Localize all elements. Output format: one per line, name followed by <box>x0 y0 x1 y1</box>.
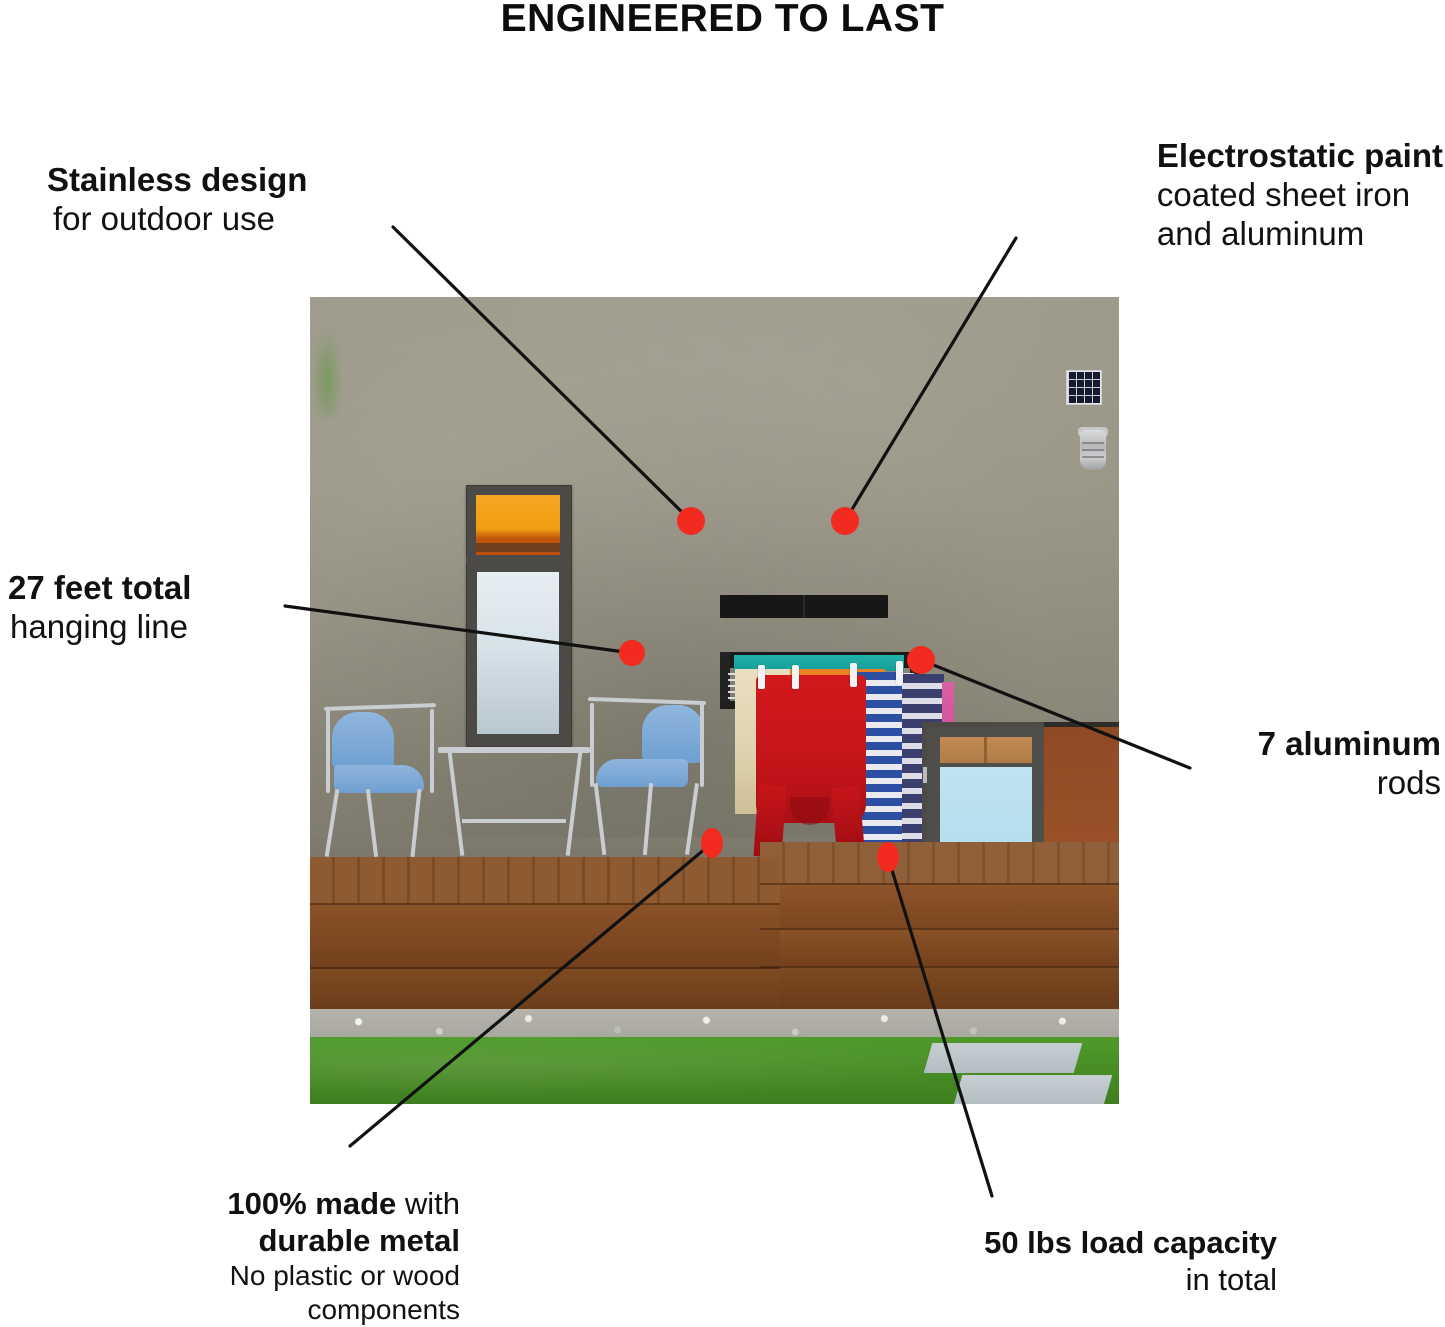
clothespin <box>792 665 799 689</box>
callout-electrostatic-paint: Electrostatic paint coated sheet iron an… <box>1157 136 1443 253</box>
patio-table-brace <box>462 819 566 823</box>
clothespin <box>758 665 765 689</box>
callout-durable-line-1-bold: 100% made <box>227 1186 396 1221</box>
product-photo <box>310 297 1119 1104</box>
wall-lamp-rib <box>1082 449 1104 451</box>
stone-paver <box>954 1075 1113 1104</box>
wall-bar-seam <box>803 595 805 618</box>
deck-seam <box>760 966 1119 968</box>
door-hinge <box>923 767 927 783</box>
chair-left-seat <box>334 765 424 793</box>
deck-seam <box>760 883 1119 885</box>
stone-paver <box>924 1043 1083 1073</box>
deck-seam <box>310 903 780 905</box>
deck-upper-surface <box>760 842 1119 886</box>
callout-durable-line-2: durable metal <box>227 1222 460 1259</box>
callout-durable-line-4: components <box>227 1293 460 1327</box>
door-transom-bar <box>984 737 987 763</box>
deck-lower-base <box>310 969 780 1013</box>
window-mullion <box>466 555 570 564</box>
patio-table-top <box>438 747 590 753</box>
callout-durable-line-1-regular: with <box>396 1186 460 1221</box>
callout-electrostatic-line-1: Electrostatic paint <box>1157 136 1443 175</box>
clothespin <box>896 661 903 685</box>
deck-upper-riser <box>760 883 1119 931</box>
page-title: ENGINEERED TO LAST <box>0 0 1445 42</box>
callout-hanging-line: 27 feet total hanging line <box>8 568 191 646</box>
callout-load-capacity: 50 lbs load capacity in total <box>984 1224 1277 1298</box>
callout-stainless-design: Stainless design for outdoor use <box>47 160 307 238</box>
chair-left-arm <box>326 709 330 793</box>
callout-durable-line-3: No plastic or wood <box>227 1259 460 1293</box>
deck-lower-riser <box>310 903 780 973</box>
callout-stainless-line-2: for outdoor use <box>47 199 307 238</box>
chair-right-arm <box>590 703 594 787</box>
callout-rods-line-2: rods <box>1258 763 1441 802</box>
chair-right-back <box>642 705 704 763</box>
solar-panel-cells <box>1068 372 1100 403</box>
deck-step-riser <box>760 967 1119 1013</box>
wall-lamp-rib <box>1082 442 1104 444</box>
callout-aluminum-rods: 7 aluminum rods <box>1258 724 1441 802</box>
deck-step <box>760 929 1119 969</box>
chair-left-back <box>332 712 394 770</box>
callout-capacity-line-2: in total <box>984 1261 1277 1298</box>
callout-stainless-line-1: Stainless design <box>47 160 307 199</box>
callout-hanging-line-2: hanging line <box>8 607 191 646</box>
chair-right-arm <box>700 703 704 787</box>
deck-lower-surface <box>310 857 780 905</box>
infographic-canvas: ENGINEERED TO LAST <box>0 0 1445 1313</box>
callout-capacity-line-1: 50 lbs load capacity <box>984 1224 1277 1261</box>
callout-durable-line-1: 100% made with <box>227 1185 460 1222</box>
clothespin <box>850 663 857 687</box>
plant-foliage <box>312 327 342 417</box>
callout-electrostatic-line-2: coated sheet iron <box>1157 175 1443 214</box>
callout-electrostatic-line-3: and aluminum <box>1157 214 1443 253</box>
wall-lamp-rib <box>1082 456 1104 458</box>
chair-left-arm <box>430 709 434 793</box>
window-transom-sill <box>476 543 560 552</box>
deck-seam <box>760 928 1119 930</box>
deck-seam <box>310 967 780 969</box>
chair-right-seat <box>596 759 688 787</box>
window-frosted-glass <box>477 572 559 734</box>
callout-durable-metal: 100% made with durable metal No plastic … <box>227 1185 460 1327</box>
callout-hanging-line-1: 27 feet total <box>8 568 191 607</box>
callout-rods-line-1: 7 aluminum <box>1258 724 1441 763</box>
